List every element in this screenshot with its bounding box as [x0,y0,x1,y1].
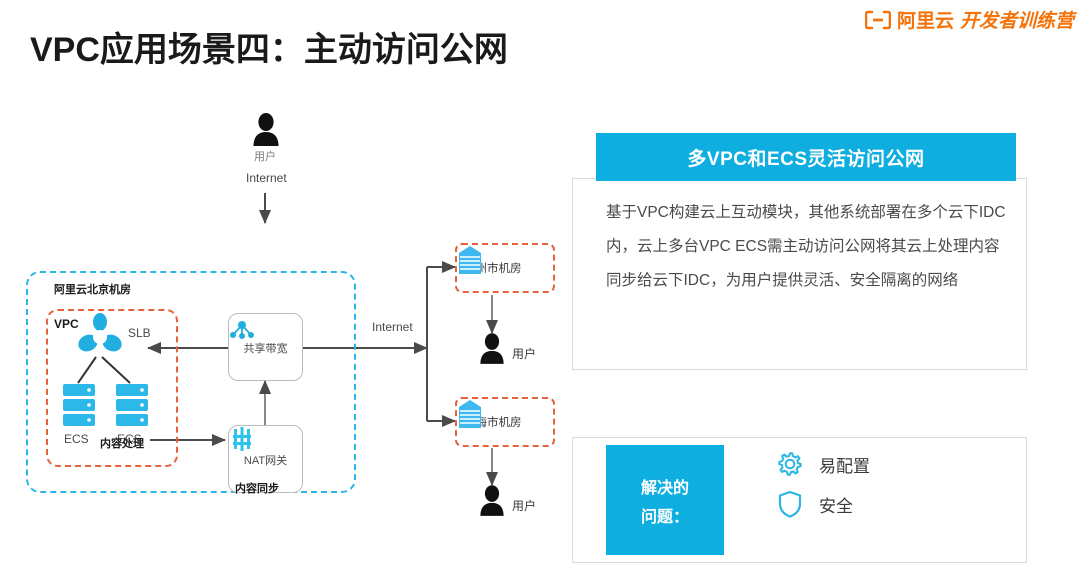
building-icon [457,399,483,429]
solution-item-security: 安全 [775,489,870,519]
description-panel-body: 基于VPC构建云上互动模块，其他系统部署在多个云下IDC内，云上多台VPC EC… [606,196,1006,298]
idc-shanghai: 上海市机房 [455,397,555,447]
internet-top-label: Internet [246,171,287,185]
slb-label: SLB [128,326,151,340]
bandwidth-hub-icon [229,314,255,340]
content-sync-label: 内容同步 [235,480,279,496]
aliyun-mark-icon [865,10,891,30]
shield-icon [775,489,805,519]
gear-icon [775,449,805,479]
user-top-label: 用户 [254,148,276,164]
description-panel-title: 多VPC和ECS灵活访问公网 [687,144,924,171]
solutions-badge-line1: 解决的 [641,474,689,498]
brand-name: 阿里云 [897,6,954,33]
ecs-left-label: ECS [64,432,89,446]
solution-item-config: 易配置 [775,449,870,479]
zone-vpc-label: VPC [54,317,79,331]
solutions-list: 易配置 安全 [775,449,870,519]
person-icon [252,113,280,147]
brand-logo: 阿里云 开发者训练营 [865,6,1074,33]
architecture-diagram: 阿里云北京机房 VPC 用户 Internet SLB ECS [0,95,570,575]
building-icon [457,245,483,275]
description-panel-header: 多VPC和ECS灵活访问公网 [596,133,1016,181]
page-title: VPC应用场景四：主动访问公网 [30,22,508,71]
brand-sub: 开发者训练营 [960,6,1074,33]
nat-gateway-label: NAT网关 [244,452,287,468]
zone-beijing-label: 阿里云北京机房 [54,281,131,297]
user-guangzhou-label: 用户 [512,345,536,362]
solutions-badge: 解决的 问题： [606,445,724,555]
nat-icon [229,426,255,452]
solutions-badge-line2: 问题： [641,503,689,527]
shared-bandwidth-node: 共享带宽 [228,313,303,381]
slb-icon [78,313,122,359]
solution-item-config-label: 易配置 [819,452,870,477]
content-process-label: 内容处理 [100,435,144,451]
person-icon [479,485,505,517]
server-icon [115,383,149,429]
shared-bandwidth-label: 共享带宽 [244,340,288,356]
user-shanghai-label: 用户 [512,497,536,514]
idc-guangzhou: 广州市机房 [455,243,555,293]
solution-item-security-label: 安全 [819,492,853,517]
person-icon [479,333,505,365]
server-icon [62,383,96,429]
internet-right-label: Internet [372,320,413,334]
